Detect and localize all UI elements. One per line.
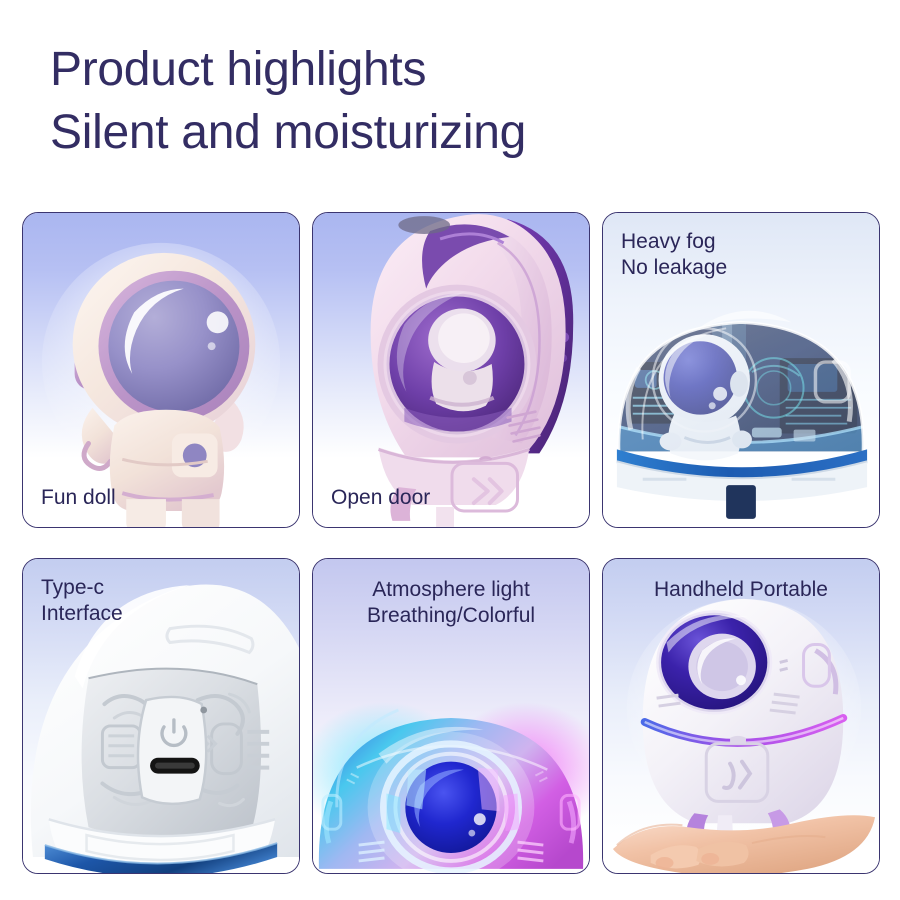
card-label-heavy-fog: Heavy fog No leakage bbox=[621, 229, 727, 282]
card-label-handheld-portable: Handheld Portable bbox=[603, 577, 879, 603]
card-label-open-door: Open door bbox=[331, 485, 430, 511]
feature-card-atmosphere-light[interactable]: Atmosphere light Breathing/Colorful bbox=[312, 558, 590, 874]
handheld-device-image bbox=[603, 559, 879, 873]
card-label-type-c-interface: Type-c Interface bbox=[41, 575, 123, 628]
astronaut-doll-image bbox=[23, 213, 299, 527]
product-highlights-page: Product highlights Silent and moisturizi… bbox=[0, 0, 900, 900]
feature-card-heavy-fog[interactable]: Heavy fog No leakage bbox=[602, 212, 880, 528]
feature-card-open-door[interactable]: Open door bbox=[312, 212, 590, 528]
page-title-line-2: Silent and moisturizing bbox=[50, 101, 850, 164]
card-label-atmosphere-light: Atmosphere light Breathing/Colorful bbox=[313, 577, 589, 630]
card-label-fun-doll: Fun doll bbox=[41, 485, 116, 511]
open-door-humidifier-image bbox=[313, 213, 589, 527]
feature-card-fun-doll[interactable]: Fun doll bbox=[22, 212, 300, 528]
page-title: Product highlights Silent and moisturizi… bbox=[50, 38, 850, 165]
feature-card-type-c-interface[interactable]: Type-c Interface bbox=[22, 558, 300, 874]
feature-card-handheld-portable[interactable]: Handheld Portable bbox=[602, 558, 880, 874]
page-title-line-1: Product highlights bbox=[50, 38, 850, 101]
feature-card-grid: Fun doll bbox=[22, 212, 880, 874]
